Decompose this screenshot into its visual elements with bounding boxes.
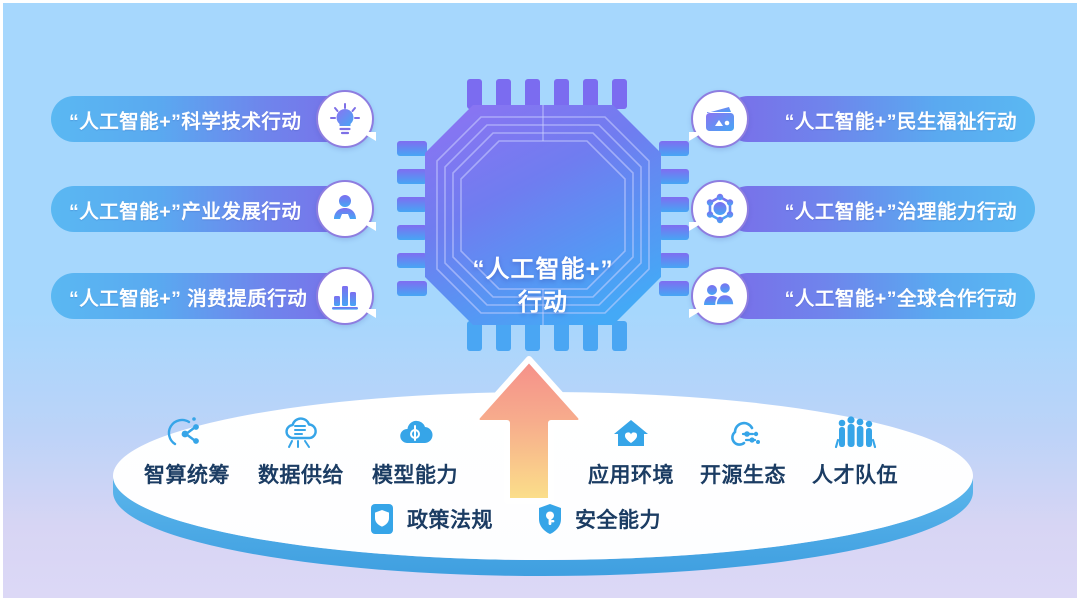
foundation-item-policy[interactable]: 政策法规: [369, 503, 493, 535]
pill-right-livelihood[interactable]: “人工智能+”民生福祉行动: [725, 96, 1035, 142]
foundation-item-compute[interactable]: 智算统筹: [144, 413, 230, 489]
foundation-item-open-source[interactable]: 开源生态: [700, 413, 786, 489]
open-source-cloud-icon: [722, 413, 764, 453]
foundation-item-data-supply[interactable]: 数据供给: [258, 413, 344, 489]
infographic-canvas: “人工智能+” 行动 “人工智能+”科学技术行动 “人工智能+”产业发展行动: [0, 0, 1080, 601]
ai-plus-chip: “人工智能+” 行动: [395, 75, 691, 355]
pill-left-consumption-label: “人工智能+” 消费提质行动: [69, 282, 307, 311]
chip-pins-right: [659, 141, 689, 296]
people-group-icon[interactable]: [691, 267, 749, 325]
pill-right-global-coop[interactable]: “人工智能+”全球合作行动: [725, 273, 1035, 319]
foundation-item-open-source-label: 开源生态: [700, 459, 786, 489]
foundation-item-data-supply-label: 数据供给: [258, 459, 344, 489]
foundation-row-left: 智算统筹 数据供给: [144, 413, 458, 489]
model-brain-cloud-icon: [395, 413, 435, 453]
home-heart-icon: [610, 413, 652, 453]
chip-pins-top: [467, 79, 627, 109]
foundation-row-right: 应用环境 开源生态: [588, 413, 898, 489]
pill-right-governance-label: “人工智能+”治理能力行动: [785, 195, 1017, 224]
pill-right-governance[interactable]: “人工智能+”治理能力行动: [725, 186, 1035, 232]
data-cloud-icon: [280, 413, 322, 453]
wallet-icon[interactable]: [691, 90, 749, 148]
pill-left-industry-dev-label: “人工智能+”产业发展行动: [69, 195, 301, 224]
policy-shield-icon: [369, 503, 395, 535]
pill-left-science-tech[interactable]: “人工智能+”科学技术行动: [51, 96, 361, 142]
foundation-row-bottom: 政策法规 安全能力: [369, 503, 661, 535]
pill-left-industry-dev[interactable]: “人工智能+”产业发展行动: [51, 186, 361, 232]
chip-pins-left: [397, 141, 427, 296]
foundation-item-talent-label: 人才队伍: [812, 459, 898, 489]
network-nodes-icon[interactable]: [691, 180, 749, 238]
lightbulb-icon[interactable]: [316, 90, 374, 148]
foundation-item-app-environment-label: 应用环境: [588, 459, 674, 489]
bar-chart-icon[interactable]: [316, 267, 374, 325]
foundation-item-security-label: 安全能力: [575, 504, 661, 534]
pill-right-global-coop-label: “人工智能+”全球合作行动: [785, 282, 1017, 311]
foundation-item-app-environment[interactable]: 应用环境: [588, 413, 674, 489]
pill-right-livelihood-label: “人工智能+”民生福祉行动: [785, 105, 1017, 134]
security-shield-key-icon: [537, 503, 563, 535]
foundation-item-talent[interactable]: 人才队伍: [812, 413, 898, 489]
chip-pins-bottom: [467, 321, 627, 351]
compute-network-icon: [167, 413, 207, 453]
pill-left-consumption[interactable]: “人工智能+” 消费提质行动: [51, 273, 361, 319]
foundation-item-policy-label: 政策法规: [407, 504, 493, 534]
upward-arrow: [469, 355, 589, 505]
foundation-item-model-capability-label: 模型能力: [372, 459, 458, 489]
pill-left-science-tech-label: “人工智能+”科学技术行动: [69, 105, 301, 134]
talent-people-icon: [833, 413, 877, 453]
foundation-item-compute-label: 智算统筹: [144, 459, 230, 489]
foundation-item-security[interactable]: 安全能力: [537, 503, 661, 535]
industry-gear-person-icon[interactable]: [316, 180, 374, 238]
foundation-item-model-capability[interactable]: 模型能力: [372, 413, 458, 489]
